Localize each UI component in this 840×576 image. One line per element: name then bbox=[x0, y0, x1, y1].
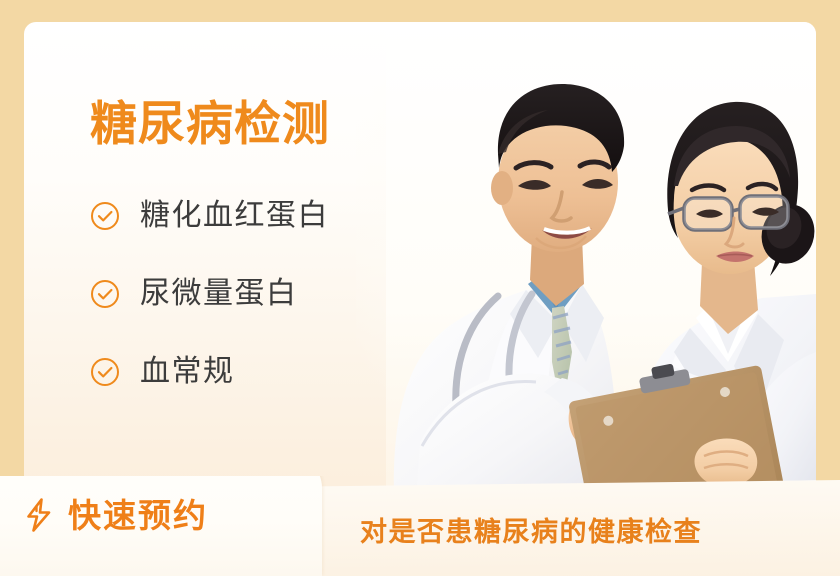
feature-label: 尿微量蛋白 bbox=[140, 279, 298, 309]
page-title: 糖尿病检测 bbox=[90, 98, 470, 151]
check-circle-icon bbox=[90, 201, 120, 231]
diabetes-test-banner: 糖尿病检测 糖化血红蛋白 bbox=[0, 0, 840, 576]
band-caption: 对是否患糖尿病的健康检查 bbox=[360, 519, 702, 546]
feature-item-2: 血常规 bbox=[90, 333, 470, 411]
feature-list: 糖化血红蛋白 尿微量蛋白 bbox=[90, 177, 470, 411]
bottom-band: 对是否患糖尿病的健康检查 快速预约 bbox=[0, 476, 840, 576]
feature-label: 血常规 bbox=[140, 357, 235, 387]
feature-label: 糖化血红蛋白 bbox=[140, 201, 329, 231]
check-circle-icon bbox=[90, 357, 120, 387]
banner-content: 糖尿病检测 糖化血红蛋白 bbox=[90, 98, 470, 411]
check-circle-icon bbox=[90, 279, 120, 309]
lightning-bolt-icon bbox=[24, 497, 54, 533]
quick-booking-button[interactable]: 快速预约 bbox=[0, 476, 322, 576]
quick-booking-label: 快速预约 bbox=[68, 499, 208, 532]
feature-item-1: 尿微量蛋白 bbox=[90, 255, 470, 333]
feature-item-0: 糖化血红蛋白 bbox=[90, 177, 470, 255]
